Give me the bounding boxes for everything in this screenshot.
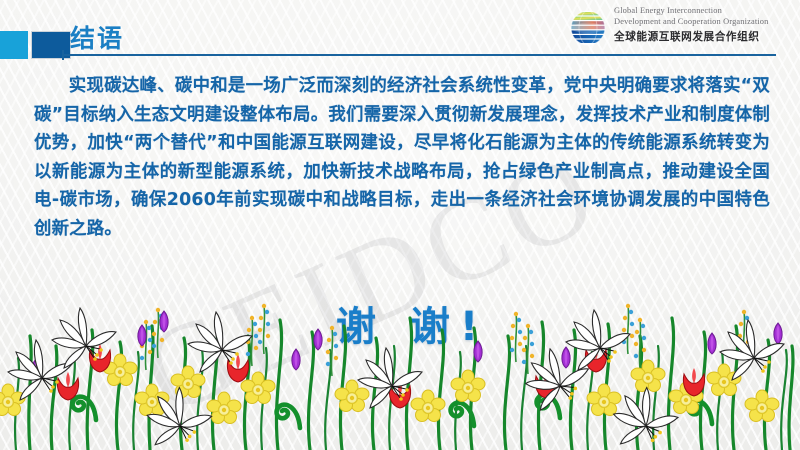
logo-text-block: Global Energy Interconnection Developmen… bbox=[614, 6, 768, 44]
slide-canvas: GEIDCO 结语 bbox=[0, 0, 800, 450]
organization-logo: Global Energy Interconnection Developmen… bbox=[566, 4, 798, 52]
globe-icon bbox=[566, 6, 610, 50]
body-paragraph-container: 实现碳达峰、碳中和是一场广泛而深刻的经济社会系统性变革，党中央明确要求将落实“双… bbox=[34, 72, 770, 244]
header-rule bbox=[62, 54, 776, 56]
body-paragraph: 实现碳达峰、碳中和是一场广泛而深刻的经济社会系统性变革，党中央明确要求将落实“双… bbox=[34, 72, 770, 244]
logo-chinese-name: 全球能源互联网发展合作组织 bbox=[614, 29, 768, 44]
page-title: 结语 bbox=[70, 19, 124, 55]
logo-english-line1: Global Energy Interconnection bbox=[614, 6, 768, 17]
flower-decoration bbox=[0, 250, 800, 450]
logo-english-line2: Development and Cooperation Organization bbox=[614, 17, 768, 28]
header-accent-square-cyan bbox=[0, 31, 28, 59]
